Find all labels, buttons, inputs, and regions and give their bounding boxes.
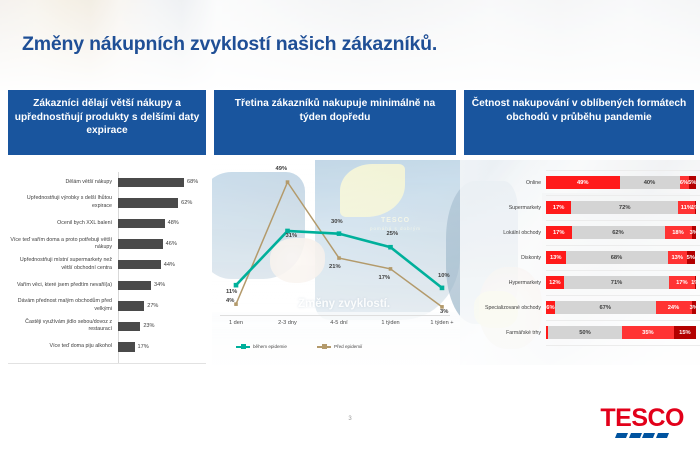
stacked-bar-track: 17%62%18%3% <box>546 226 696 239</box>
stacked-bar-track: 6%67%24%3% <box>546 301 696 314</box>
legend-swatch <box>317 346 331 348</box>
bar-row-fill <box>118 281 151 291</box>
bar-row: Ocenil bych XXL balení48% <box>8 213 206 234</box>
bar-row-label: Dávám přednost malým obchodům před velký… <box>8 298 118 313</box>
stacked-bar-gridline <box>546 270 700 271</box>
line-chart-x-label: 4-5 dní <box>317 320 361 326</box>
stacked-bar-segment: 1% <box>695 201 697 214</box>
page-title: Změny nákupních zvyklostí našich zákazní… <box>22 33 437 56</box>
legend-item[interactable]: Před epidemií <box>317 344 362 349</box>
bar-row-fill <box>118 301 144 311</box>
bar-row-value: 27% <box>147 303 158 309</box>
legend-item[interactable]: během epidemie <box>236 344 287 349</box>
stacked-bar-segment: 17% <box>546 201 571 214</box>
bar-row-value: 46% <box>166 241 177 247</box>
bar-row-track: 48% <box>118 213 206 234</box>
panel-header-2: Třetina zákazníků nakupuje minimálně na … <box>214 90 456 155</box>
line-chart-svg <box>214 160 456 366</box>
stacked-bar-row: Hypermarkety12%71%17%1% <box>464 270 696 295</box>
stacked-bar-label: Specializované obchody <box>464 305 546 311</box>
bar-row-track: 17% <box>118 337 206 358</box>
line-chart-x-label: 1 týden <box>369 320 413 326</box>
bar-row: Dávám přednost malým obchodům před velký… <box>8 296 206 317</box>
tesco-dash <box>656 433 669 438</box>
bar-row-fill <box>118 260 161 270</box>
line-point-label: 10% <box>438 273 450 279</box>
stacked-bar-gridline <box>546 195 700 196</box>
bar-row-value: 68% <box>187 179 198 185</box>
stacked-bar-gridline <box>546 320 700 321</box>
bar-row: Více teď doma piju alkohol17% <box>8 337 206 358</box>
stacked-bar-track: 50%35%15% <box>546 326 696 339</box>
line-chart-x-label: 2-3 dny <box>266 320 310 326</box>
chart-horizontal-bars: Dělám větší nákupy68%Upřednostňuji výrob… <box>8 160 206 366</box>
stacked-bar-segment: 3% <box>692 226 697 239</box>
stacked-bar-segment: 62% <box>572 226 665 239</box>
stacked-bar-track: 49%40%6%5% <box>546 176 696 189</box>
stacked-bar-row: Diskonty13%68%13%5% <box>464 245 696 270</box>
line-chart-plot: Změny zvyklostí. 1 den2-3 dny4-5 dní1 tý… <box>214 160 456 366</box>
stacked-bar-segment: 49% <box>546 176 620 189</box>
stacked-bar-segment: 24% <box>656 301 692 314</box>
stacked-bar-segment: 35% <box>622 326 674 339</box>
bar-row-track: 23% <box>118 316 206 337</box>
bar-row-value: 23% <box>143 323 154 329</box>
legend-label: Před epidemií <box>334 344 362 349</box>
line-point-label: 17% <box>379 275 391 281</box>
stacked-bar-segment: 17% <box>546 226 572 239</box>
stacked-bar-track: 13%68%13%5% <box>546 251 696 264</box>
line-series-marker <box>286 180 290 184</box>
tesco-wordmark: TESCO <box>600 406 684 431</box>
bar-row-label: Ocenil bych XXL balení <box>8 220 118 227</box>
bar-row: Upřednostňuji místní supermarkety než vě… <box>8 254 206 275</box>
stacked-bar-gridline <box>546 345 700 346</box>
bar-row: Dělám větší nákupy68% <box>8 172 206 193</box>
panel-header-1: Zákazníci dělají větší nákupy a upřednos… <box>8 90 206 155</box>
line-point-label: 31% <box>286 233 298 239</box>
stacked-bar-segment: 40% <box>620 176 680 189</box>
line-point-label: 25% <box>387 231 399 237</box>
stacked-bar-segment: 15% <box>674 326 696 339</box>
tesco-logo-dashes <box>600 433 684 438</box>
bar-chart-rows: Dělám větší nákupy68%Upřednostňuji výrob… <box>8 160 206 366</box>
bar-row-track: 27% <box>118 296 206 317</box>
line-series-marker <box>337 256 341 260</box>
panel-header-3: Četnost nakupování v oblíbených formátec… <box>464 90 694 155</box>
bar-row-value: 34% <box>154 282 165 288</box>
bar-row: Upřednostňuji výrobky s delší lhůtou exp… <box>8 193 206 214</box>
line-chart-x-label: 1 den <box>214 320 258 326</box>
line-series-marker <box>388 245 393 250</box>
line-series-path <box>236 182 442 307</box>
stacked-bar-row: Lokální obchody17%62%18%3% <box>464 220 696 245</box>
bar-row-fill <box>118 239 163 249</box>
slide: TESCOpomáhá s dobrým Změny nákupních zvy… <box>0 0 700 450</box>
stacked-bar-segment: 6% <box>546 301 555 314</box>
line-point-label: 4% <box>226 298 234 304</box>
tesco-dash <box>615 433 628 438</box>
stacked-bar-row: Specializované obchody6%67%24%3% <box>464 295 696 320</box>
line-chart-x-label: 1 týden + <box>420 320 464 326</box>
bar-row-fill <box>118 219 165 229</box>
bar-row-label: Upřednostňuji místní supermarkety než vě… <box>8 257 118 272</box>
stacked-bar-segment: 71% <box>564 276 669 289</box>
stacked-bar-gridline <box>546 295 700 296</box>
bar-chart-baseline <box>8 363 206 364</box>
line-point-label: 21% <box>329 264 341 270</box>
line-point-label: 11% <box>226 289 237 295</box>
stacked-bar-segment: 13% <box>668 251 688 264</box>
bar-row: Více teď vařím doma a proto potřebuji vě… <box>8 234 206 255</box>
line-series-marker <box>440 286 445 291</box>
bar-row-value: 17% <box>138 344 149 350</box>
stacked-bar-row: Supermarkety17%72%11%1% <box>464 195 696 220</box>
tesco-dash <box>629 433 642 438</box>
stacked-bar-label: Hypermarkety <box>464 280 546 286</box>
footer-backdrop <box>0 366 700 450</box>
stacked-bar-track: 17%72%11%1% <box>546 201 696 214</box>
stacked-bar-segment: 13% <box>546 251 566 264</box>
stacked-bar-row: Online49%40%6%5% <box>464 170 696 195</box>
stacked-bar-segment: 5% <box>687 251 695 264</box>
bar-row-fill <box>118 178 184 188</box>
bar-row-label: Více teď doma piju alkohol <box>8 343 118 350</box>
stacked-bar-label: Supermarkety <box>464 205 546 211</box>
line-series-marker <box>234 283 239 288</box>
stacked-bar-segment: 18% <box>665 226 692 239</box>
stacked-bar-segment: 50% <box>548 326 622 339</box>
bar-row-label: Upřednostňuji výrobky s delší lhůtou exp… <box>8 195 118 210</box>
line-series-marker <box>337 231 342 236</box>
line-point-label: 49% <box>276 166 288 172</box>
bar-row-track: 46% <box>118 234 206 255</box>
bar-row-track: 68% <box>118 172 206 193</box>
bar-row-value: 48% <box>168 220 179 226</box>
line-chart-watermark: Změny zvyklostí. <box>298 298 390 310</box>
stacked-bar-gridline <box>546 220 700 221</box>
tesco-dash <box>642 433 655 438</box>
stacked-bar-track: 12%71%17%1% <box>546 276 696 289</box>
page-number: 3 <box>0 416 700 422</box>
stacked-bar-gridline <box>546 170 700 171</box>
legend-label: během epidemie <box>253 344 287 349</box>
bar-row: Častěji využívám jídlo sebou/dovoz z res… <box>8 316 206 337</box>
stacked-bar-segment: 72% <box>571 201 678 214</box>
stacked-bar-segment: 3% <box>692 301 697 314</box>
line-point-label: 3% <box>440 309 448 315</box>
bar-row-label: Více teď vařím doma a proto potřebuji vě… <box>8 237 118 252</box>
tesco-logo: TESCO <box>600 406 684 438</box>
bar-row-label: Vařím věci, které jsem předtím nevařil(a… <box>8 282 118 289</box>
line-chart-baseline <box>220 315 450 316</box>
line-point-label: 30% <box>331 219 343 225</box>
bar-row-track: 44% <box>118 254 206 275</box>
stacked-bar-segment: 67% <box>555 301 656 314</box>
line-series-marker <box>234 302 238 306</box>
stacked-bar-segment: 68% <box>566 251 668 264</box>
line-series-marker <box>389 267 393 271</box>
stacked-bar-label: Farmářské trhy <box>464 330 546 336</box>
chart-line: Změny zvyklostí. 1 den2-3 dny4-5 dní1 tý… <box>214 160 456 366</box>
stacked-bar-label: Lokální obchody <box>464 230 546 236</box>
legend-swatch <box>236 346 250 348</box>
bar-row-track: 62% <box>118 193 206 214</box>
bar-row-label: Dělám větší nákupy <box>8 179 118 186</box>
stacked-bar-segment: 5% <box>689 176 697 189</box>
stacked-bar-rows: Online49%40%6%5%Supermarkety17%72%11%1%L… <box>464 160 696 366</box>
line-chart-legend: během epidemiePřed epidemií <box>236 344 362 349</box>
bar-row-fill <box>118 342 135 352</box>
bar-row-fill <box>118 198 178 208</box>
bar-row-track: 34% <box>118 275 206 296</box>
bar-row-label: Častěji využívám jídlo sebou/dovoz z res… <box>8 319 118 334</box>
stacked-bar-segment: 1% <box>695 276 697 289</box>
bar-row-fill <box>118 322 140 332</box>
stacked-bar-gridline <box>546 245 700 246</box>
bar-row: Vařím věci, které jsem předtím nevařil(a… <box>8 275 206 296</box>
stacked-bar-row: Farmářské trhy50%35%15% <box>464 320 696 345</box>
stacked-bar-segment: 12% <box>546 276 564 289</box>
bar-row-value: 44% <box>164 262 175 268</box>
chart-stacked-bars: Online49%40%6%5%Supermarkety17%72%11%1%L… <box>464 160 696 366</box>
stacked-bar-label: Diskonty <box>464 255 546 261</box>
bar-row-value: 62% <box>181 200 192 206</box>
stacked-bar-label: Online <box>464 180 546 186</box>
